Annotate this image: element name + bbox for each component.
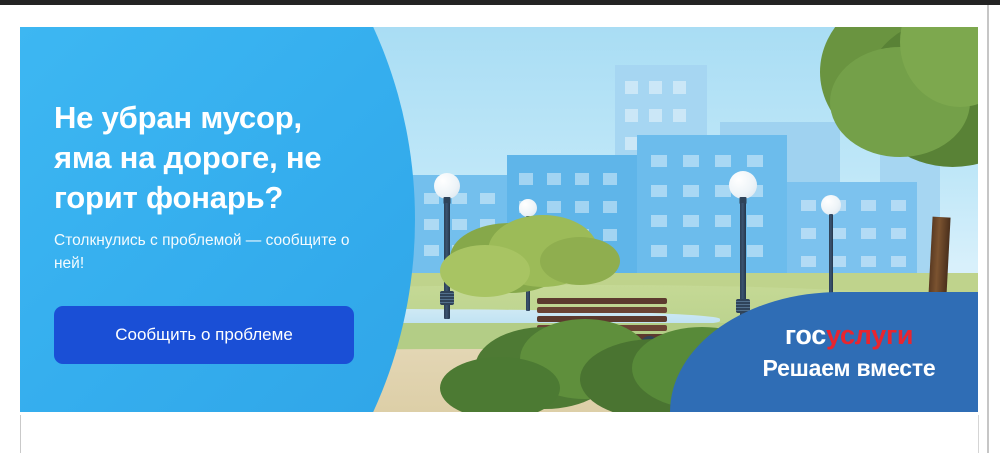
- scrollbar-track-line[interactable]: [987, 5, 989, 453]
- gosuslugi-wordmark: госуслуги: [785, 322, 913, 349]
- logo-tagline: Решаем вместе: [763, 355, 936, 382]
- report-problem-button[interactable]: Сообщить о проблеме: [54, 306, 354, 364]
- logo-part-gos: гос: [785, 320, 826, 350]
- bush-foreground: [440, 357, 560, 412]
- bush: [440, 245, 530, 297]
- page-root: Не убран мусор, яма на дороге, не горит …: [0, 0, 1000, 453]
- gosuslugi-banner[interactable]: Не убран мусор, яма на дороге, не горит …: [20, 27, 978, 412]
- banner-headline: Не убран мусор, яма на дороге, не горит …: [54, 98, 364, 219]
- page-content-card: [20, 415, 979, 453]
- logo-part-uslugi: услуги: [826, 320, 913, 350]
- browser-chrome-strip: [0, 0, 1000, 5]
- banner-subtitle: Столкнулись с проблемой — сообщите о ней…: [54, 229, 354, 276]
- bush: [540, 237, 620, 285]
- street-lamp: [728, 171, 758, 327]
